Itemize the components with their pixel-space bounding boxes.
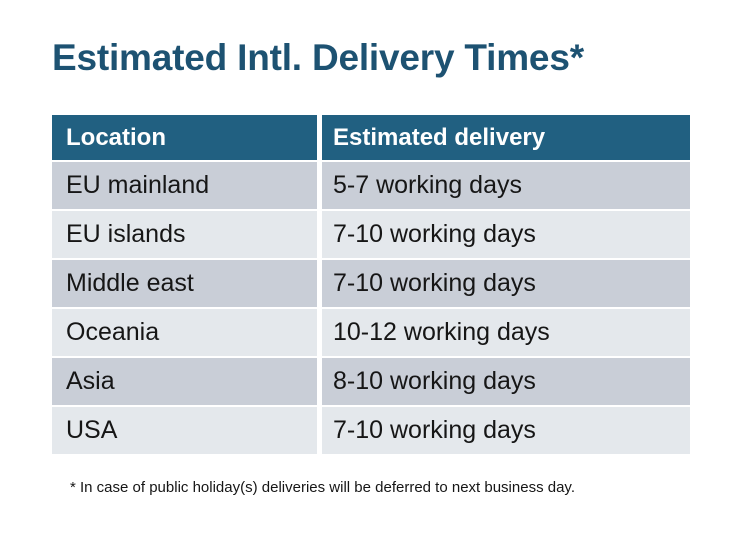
table-footnote: * In case of public holiday(s) deliverie… <box>70 478 575 498</box>
delivery-times-table: Location Estimated delivery EU mainland … <box>52 115 690 454</box>
cell-delivery: 8-10 working days <box>322 358 690 405</box>
table-row: Middle east 7-10 working days <box>52 260 690 307</box>
delivery-times-page: Estimated Intl. Delivery Times* Location… <box>0 0 745 536</box>
table-row: Asia 8-10 working days <box>52 358 690 405</box>
cell-location: Asia <box>52 358 317 405</box>
cell-delivery: 5-7 working days <box>322 162 690 209</box>
cell-location: Oceania <box>52 309 317 356</box>
column-header-location: Location <box>52 115 317 160</box>
cell-location: USA <box>52 407 317 454</box>
table-row: Oceania 10-12 working days <box>52 309 690 356</box>
cell-delivery: 10-12 working days <box>322 309 690 356</box>
table-row: USA 7-10 working days <box>52 407 690 454</box>
cell-location: EU islands <box>52 211 317 258</box>
cell-delivery: 7-10 working days <box>322 211 690 258</box>
cell-delivery: 7-10 working days <box>322 407 690 454</box>
cell-location: Middle east <box>52 260 317 307</box>
page-title: Estimated Intl. Delivery Times* <box>52 36 584 80</box>
column-header-estimated-delivery: Estimated delivery <box>322 115 690 160</box>
table-row: EU islands 7-10 working days <box>52 211 690 258</box>
cell-location: EU mainland <box>52 162 317 209</box>
cell-delivery: 7-10 working days <box>322 260 690 307</box>
table-row: EU mainland 5-7 working days <box>52 162 690 209</box>
table-header-row: Location Estimated delivery <box>52 115 690 160</box>
